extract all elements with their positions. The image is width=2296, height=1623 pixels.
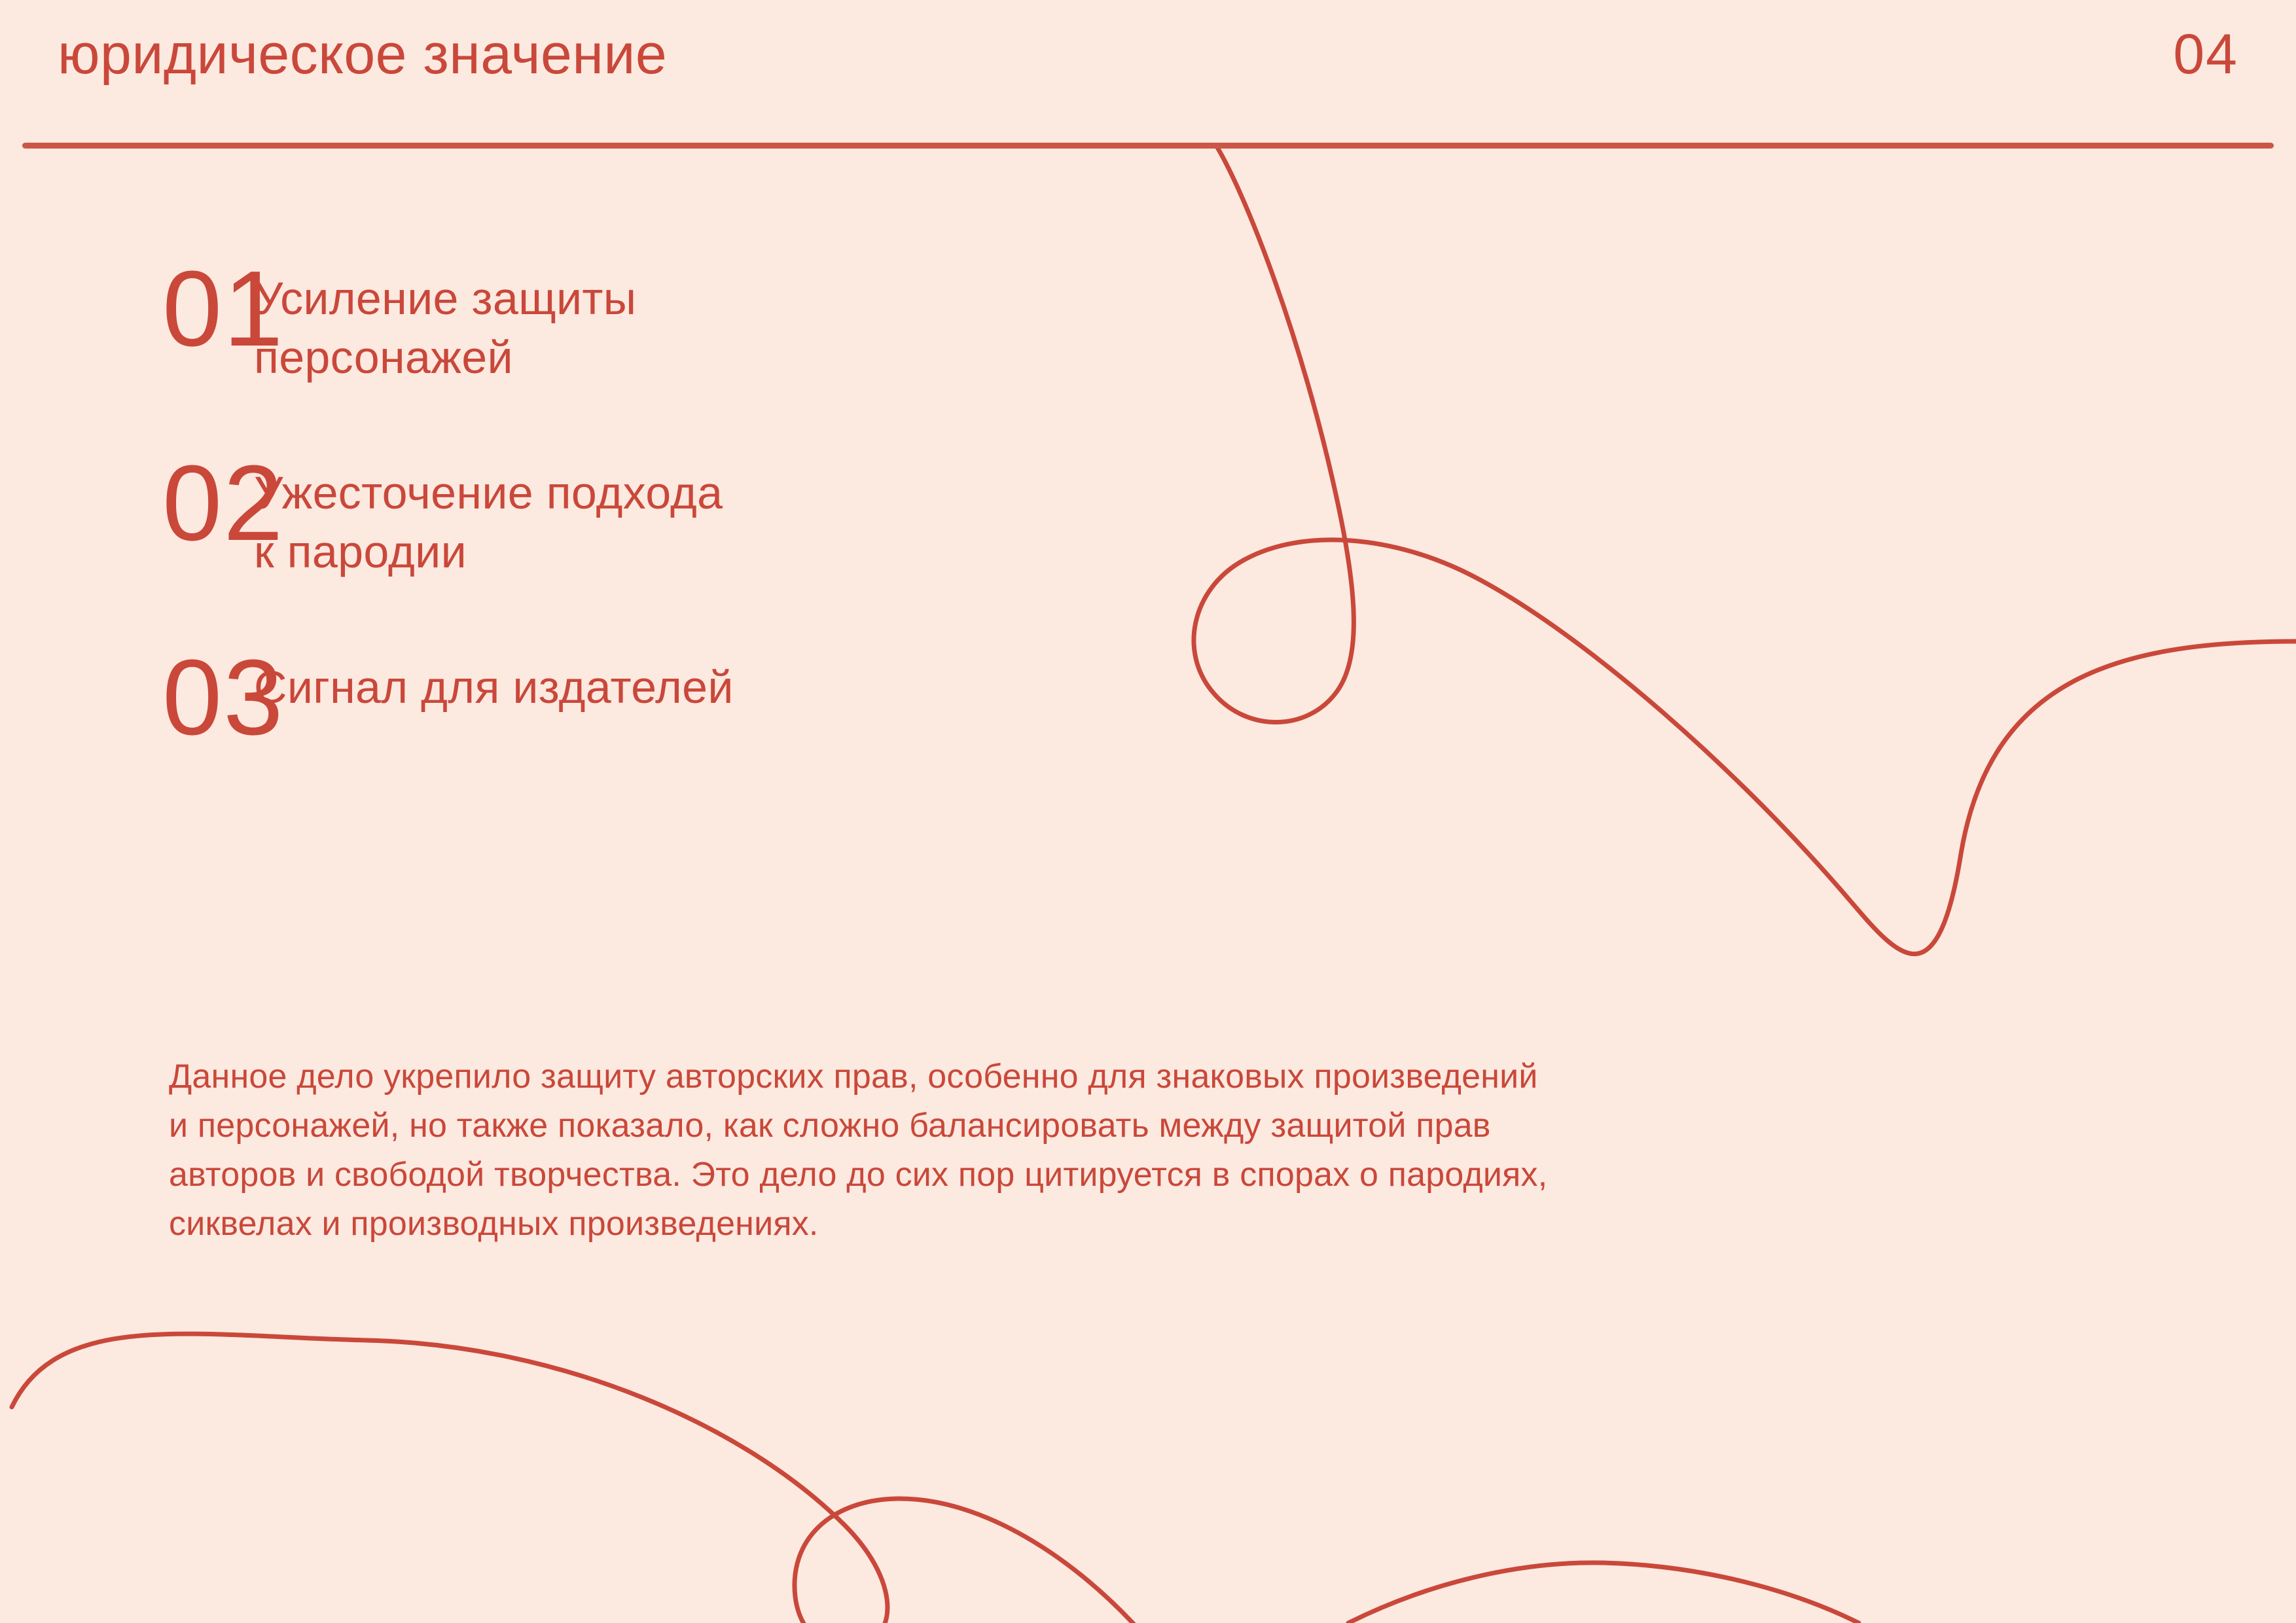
list-item: 03 Сигнал для издателей xyxy=(0,644,1440,768)
point-number-02: 02 xyxy=(0,450,216,557)
points-list: 01 Усиление защиты персонажей 02 Ужесточ… xyxy=(0,255,1440,831)
slide-header: юридическое значение 04 xyxy=(0,0,2296,154)
body-paragraph: Данное дело укрепило защиту авторских пр… xyxy=(169,1052,1962,1249)
point-number-03: 03 xyxy=(0,644,216,751)
point-label-03: Сигнал для издателей xyxy=(216,644,1440,717)
slide-root: юридическое значение 04 01 Усиление защи… xyxy=(0,0,2296,1623)
bottom-left-squiggle-icon xyxy=(12,1334,1139,1623)
point-number-01: 01 xyxy=(0,255,216,363)
page-title: юридическое значение xyxy=(58,24,667,86)
list-item: 02 Ужесточение подхода к пародии xyxy=(0,450,1440,581)
list-item: 01 Усиление защиты персонажей xyxy=(0,255,1440,387)
point-label-01: Усиление защиты персонажей xyxy=(216,255,1440,387)
header-divider xyxy=(22,143,2274,149)
bottom-right-arc-icon xyxy=(1348,1563,1859,1623)
point-label-02: Ужесточение подхода к пародии xyxy=(216,450,1440,581)
page-number: 04 xyxy=(2173,24,2238,86)
